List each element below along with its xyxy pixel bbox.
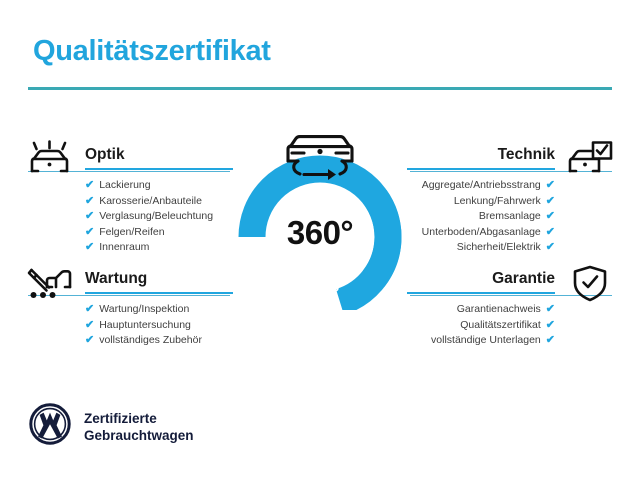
check-icon: ✔ (85, 242, 94, 253)
360-check-badge: Gebrauchtwagen-Check (228, 118, 412, 310)
list-item-label: Bremsanlage (479, 209, 541, 225)
list-item-label: Lackierung (99, 178, 150, 194)
badge-center-label: 360° (228, 214, 412, 252)
footer-text: Zertifizierte Gebrauchtwagen (84, 410, 194, 444)
footer-line-1: Zertifizierte (84, 411, 157, 426)
list-item-label: Verglasung/Beleuchtung (99, 209, 213, 225)
list-item-label: Sicherheit/Elektrik (457, 240, 541, 256)
section-technik-items: Aggregate/Antriebsstrang ✔ Lenkung/Fahrw… (407, 178, 612, 256)
section-optik-underline (85, 168, 233, 170)
list-item: ✔ Wartung/Inspektion (85, 302, 233, 318)
check-icon: ✔ (85, 211, 94, 222)
section-optik-header: Optik (28, 140, 233, 170)
list-item: Lenkung/Fahrwerk ✔ (407, 194, 555, 210)
section-optik-items: ✔ Lackierung ✔ Karosserie/Anbauteile ✔ V… (28, 178, 233, 256)
check-icon: ✔ (85, 335, 94, 346)
list-item: Unterboden/Abgasanlage ✔ (407, 225, 555, 241)
list-item: Sicherheit/Elektrik ✔ (407, 240, 555, 256)
section-garantie-header: Garantie (407, 264, 612, 294)
section-optik-title: Optik (85, 146, 125, 164)
list-item: ✔ Innenraum (85, 240, 233, 256)
section-technik-underline (407, 168, 555, 170)
check-icon: ✔ (546, 196, 555, 207)
section-technik: Technik Aggregate/Antriebsstrang ✔ Lenku… (407, 140, 612, 256)
page-title: Qualitätszertifikat (33, 35, 271, 68)
check-icon: ✔ (546, 211, 555, 222)
section-technik-title: Technik (498, 146, 555, 164)
check-icon: ✔ (85, 196, 94, 207)
list-item: ✔ Felgen/Reifen (85, 225, 233, 241)
check-icon: ✔ (546, 320, 555, 331)
list-item-label: Aggregate/Antriebsstrang (422, 178, 541, 194)
list-item-label: Hauptuntersuchung (99, 318, 191, 334)
section-optik: Optik ✔ Lackierung ✔ Karosserie/Anbautei… (28, 140, 233, 256)
list-item-label: Innenraum (99, 240, 149, 256)
section-garantie-title: Garantie (492, 270, 555, 288)
section-garantie: Garantie Garantienachweis ✔ Qualitätszer… (407, 264, 612, 349)
list-item: ✔ Karosserie/Anbauteile (85, 194, 233, 210)
list-item-label: vollständige Unterlagen (431, 333, 541, 349)
list-item: Garantienachweis ✔ (407, 302, 555, 318)
section-wartung-underline (85, 292, 233, 294)
check-icon: ✔ (546, 335, 555, 346)
list-item: Qualitätszertifikat ✔ (407, 318, 555, 334)
section-wartung: Wartung ✔ Wartung/Inspektion ✔ Hauptunte… (28, 264, 233, 349)
check-icon: ✔ (85, 227, 94, 238)
list-item: ✔ Hauptuntersuchung (85, 318, 233, 334)
check-icon: ✔ (546, 304, 555, 315)
list-item-label: vollständiges Zubehör (99, 333, 202, 349)
list-item-label: Unterboden/Abgasanlage (422, 225, 541, 241)
list-item-label: Lenkung/Fahrwerk (454, 194, 541, 210)
list-item-label: Wartung/Inspektion (99, 302, 189, 318)
section-technik-header: Technik (407, 140, 612, 170)
list-item: ✔ vollständiges Zubehör (85, 333, 233, 349)
footer-line-2: Gebrauchtwagen (84, 428, 194, 443)
list-item: Aggregate/Antriebsstrang ✔ (407, 178, 555, 194)
check-icon: ✔ (546, 180, 555, 191)
section-wartung-header: Wartung (28, 264, 233, 294)
list-item: ✔ Verglasung/Beleuchtung (85, 209, 233, 225)
check-icon: ✔ (546, 242, 555, 253)
list-item-label: Felgen/Reifen (99, 225, 164, 241)
check-icon: ✔ (85, 180, 94, 191)
list-item-label: Qualitätszertifikat (460, 318, 541, 334)
check-icon: ✔ (85, 304, 94, 315)
list-item-label: Garantienachweis (457, 302, 541, 318)
list-item-label: Karosserie/Anbauteile (99, 194, 202, 210)
check-icon: ✔ (85, 320, 94, 331)
list-item: ✔ Lackierung (85, 178, 233, 194)
list-item: vollständige Unterlagen ✔ (407, 333, 555, 349)
footer-logo-block: Zertifizierte Gebrauchtwagen (29, 403, 194, 450)
section-garantie-underline (407, 292, 555, 294)
certificate-sheet: Qualitätszertifikat (0, 0, 640, 480)
title-divider (28, 87, 612, 90)
volkswagen-logo (29, 403, 71, 450)
check-icon: ✔ (546, 227, 555, 238)
section-wartung-title: Wartung (85, 270, 147, 288)
list-item: Bremsanlage ✔ (407, 209, 555, 225)
